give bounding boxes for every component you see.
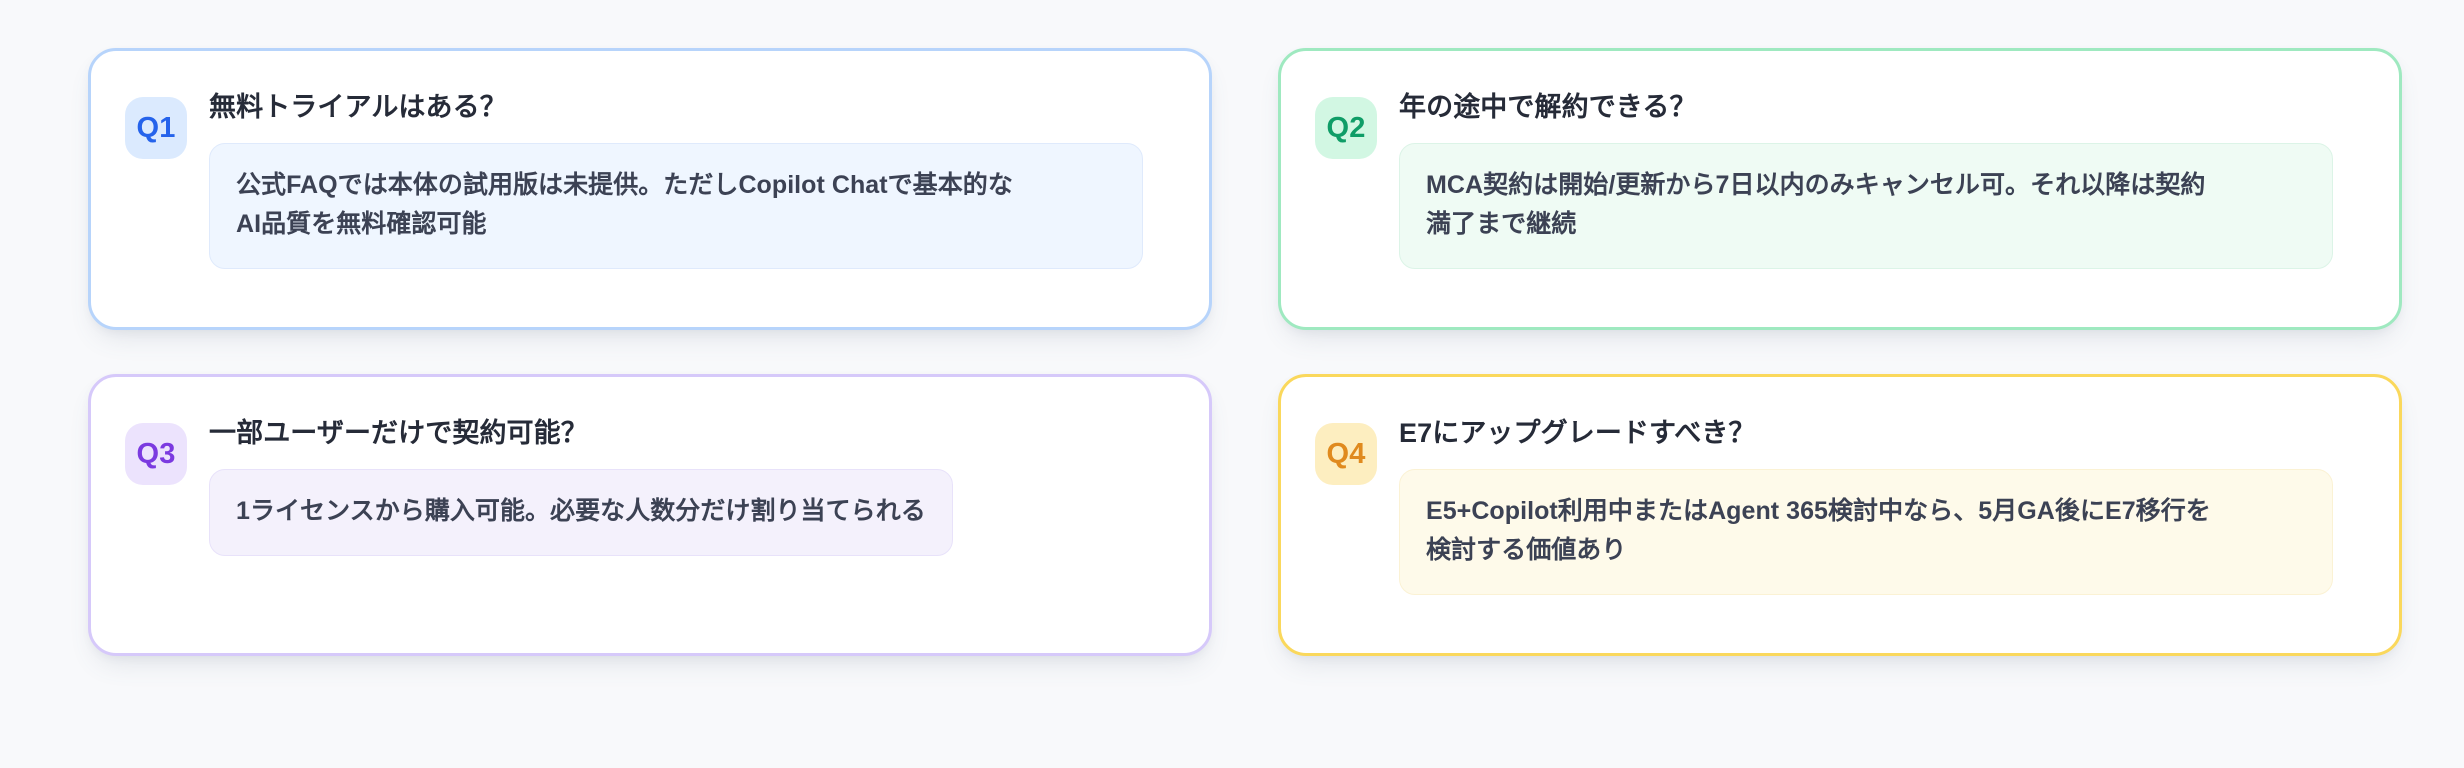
question-badge-q1: Q1 xyxy=(125,97,187,159)
question-text-q2: 年の途中で解約できる？ xyxy=(1399,89,2361,125)
faq-card-q4[interactable]: Q4 E7にアップグレードすべき？ E5+Copilot利用中またはAgent … xyxy=(1278,374,2402,656)
faq-card-q2[interactable]: Q2 年の途中で解約できる？ MCA契約は開始/更新から7日以内のみキャンセル可… xyxy=(1278,48,2402,330)
question-badge-q2: Q2 xyxy=(1315,97,1377,159)
question-text-q3: 一部ユーザーだけで契約可能？ xyxy=(209,415,1171,451)
faq-board: Q1 無料トライアルはある？ 公式FAQでは本体の試用版は未提供。ただしCopi… xyxy=(0,0,2464,768)
answer-line: E5+Copilot利用中またはAgent 365検討中なら、5月GA後にE7移… xyxy=(1426,492,2306,531)
faq-card-body-q2: 年の途中で解約できる？ MCA契約は開始/更新から7日以内のみキャンセル可。それ… xyxy=(1399,87,2361,269)
faq-card-grid: Q1 無料トライアルはある？ 公式FAQでは本体の試用版は未提供。ただしCopi… xyxy=(88,48,2402,656)
answer-line: 公式FAQでは本体の試用版は未提供。ただしCopilot Chatで基本的な xyxy=(236,166,1116,205)
question-badge-q4: Q4 xyxy=(1315,423,1377,485)
answer-box-q1: 公式FAQでは本体の試用版は未提供。ただしCopilot Chatで基本的な A… xyxy=(209,143,1143,269)
answer-line: MCA契約は開始/更新から7日以内のみキャンセル可。それ以降は契約 xyxy=(1426,166,2306,205)
faq-card-body-q3: 一部ユーザーだけで契約可能？ 1ライセンスから購入可能。必要な人数分だけ割り当て… xyxy=(209,413,1171,556)
answer-line: AI品質を無料確認可能 xyxy=(236,205,1116,244)
question-text-q4: E7にアップグレードすべき？ xyxy=(1399,415,2361,451)
question-text-q1: 無料トライアルはある？ xyxy=(209,89,1171,125)
answer-line: 検討する価値あり xyxy=(1426,531,2306,570)
faq-card-q3[interactable]: Q3 一部ユーザーだけで契約可能？ 1ライセンスから購入可能。必要な人数分だけ割… xyxy=(88,374,1212,656)
answer-box-q3: 1ライセンスから購入可能。必要な人数分だけ割り当てられる xyxy=(209,469,953,556)
faq-card-q1[interactable]: Q1 無料トライアルはある？ 公式FAQでは本体の試用版は未提供。ただしCopi… xyxy=(88,48,1212,330)
question-badge-q3: Q3 xyxy=(125,423,187,485)
answer-box-q4: E5+Copilot利用中またはAgent 365検討中なら、5月GA後にE7移… xyxy=(1399,469,2333,595)
answer-line: 1ライセンスから購入可能。必要な人数分だけ割り当てられる xyxy=(236,492,926,531)
faq-card-body-q1: 無料トライアルはある？ 公式FAQでは本体の試用版は未提供。ただしCopilot… xyxy=(209,87,1171,269)
faq-card-body-q4: E7にアップグレードすべき？ E5+Copilot利用中またはAgent 365… xyxy=(1399,413,2361,595)
answer-box-q2: MCA契約は開始/更新から7日以内のみキャンセル可。それ以降は契約 満了まで継続 xyxy=(1399,143,2333,269)
answer-line: 満了まで継続 xyxy=(1426,205,2306,244)
